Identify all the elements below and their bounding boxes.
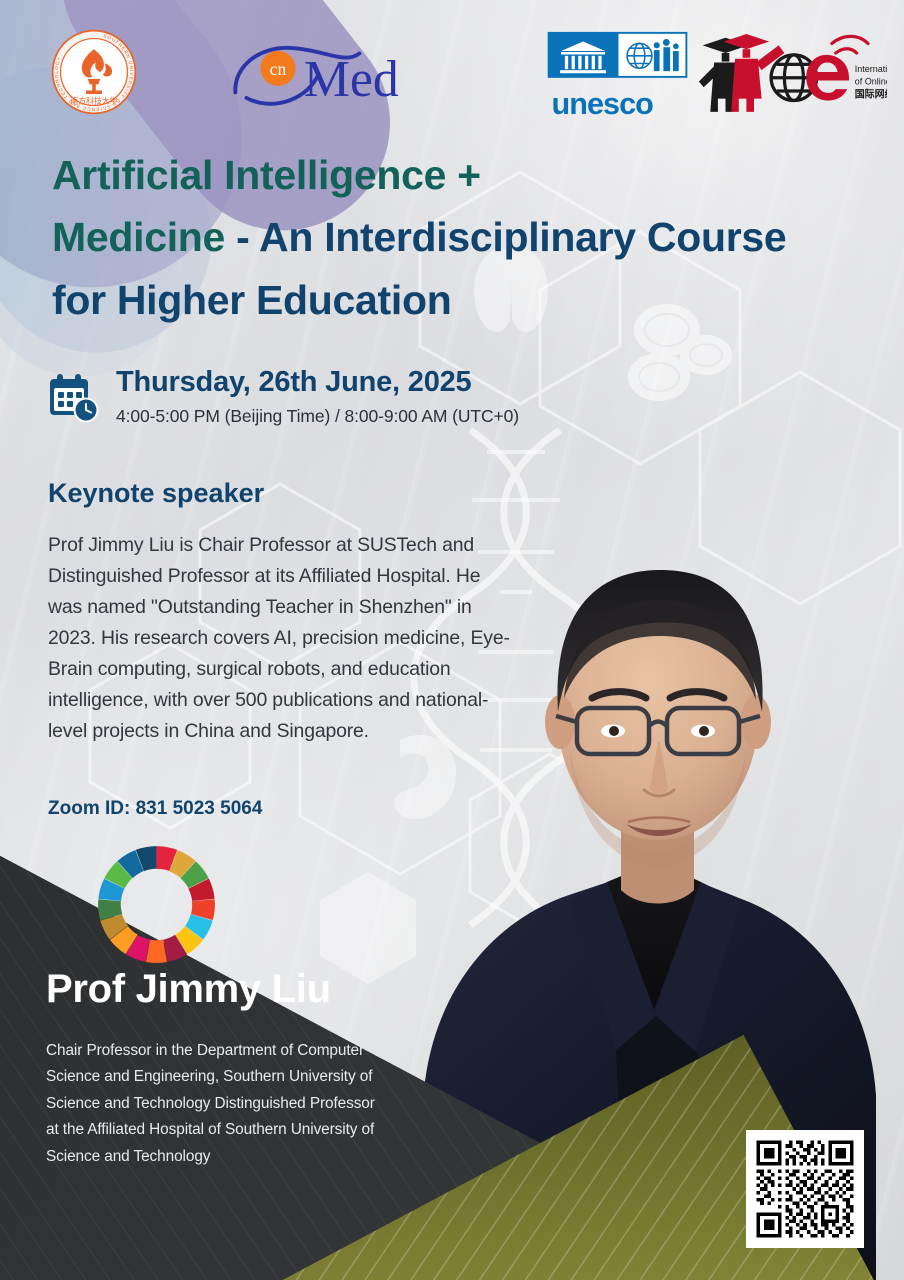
event-date: Thursday, 26th June, 2025 (116, 366, 519, 399)
svg-text:国际网络教育学院: 国际网络教育学院 (855, 88, 887, 101)
keynote-heading: Keynote speaker (48, 478, 264, 509)
cnmed-logo: cn Med (228, 33, 413, 111)
sustech-logo: SOUTHERN UNIVERSITY OF SCIENCE AND TECHN… (50, 28, 138, 116)
iioe-logo: International Institute of Online Educat… (697, 28, 887, 116)
svg-text:International Institute: International Institute (855, 64, 887, 74)
title-line2-green: Medicine (52, 214, 225, 260)
sdg-color-wheel (93, 841, 220, 968)
registration-qr-code[interactable] (746, 1130, 864, 1248)
speaker-affiliation: Chair Professor in the Department of Com… (46, 1038, 376, 1170)
poster-title: Artificial Intelligence + Medicine - An … (52, 144, 872, 331)
svg-text:南方科技大学: 南方科技大学 (70, 96, 118, 106)
event-time: 4:00-5:00 PM (Beijing Time) / 8:00-9:00 … (116, 406, 519, 427)
title-line2-navy: - An Interdisciplinary Course (225, 214, 786, 260)
unesco-logo: unesco (545, 30, 690, 118)
qr-code-graphic (753, 1137, 857, 1241)
calendar-clock-icon (48, 372, 100, 424)
svg-text:Med: Med (304, 51, 399, 108)
zoom-id[interactable]: Zoom ID: 831 5023 5064 (48, 798, 262, 820)
speaker-name: Prof Jimmy Liu (46, 967, 331, 1012)
svg-text:cn: cn (270, 59, 287, 79)
title-line3: for Higher Education (52, 277, 451, 323)
poster-root: SOUTHERN UNIVERSITY OF SCIENCE AND TECHN… (0, 0, 904, 1280)
logo-bar: SOUTHERN UNIVERSITY OF SCIENCE AND TECHN… (0, 0, 904, 140)
svg-text:of Online Education: of Online Education (855, 76, 887, 86)
svg-text:unesco: unesco (552, 87, 654, 118)
title-line1: Artificial Intelligence + (52, 152, 481, 198)
keynote-bio: Prof Jimmy Liu is Chair Professor at SUS… (48, 530, 518, 747)
event-datetime: Thursday, 26th June, 2025 4:00-5:00 PM (… (48, 366, 519, 427)
